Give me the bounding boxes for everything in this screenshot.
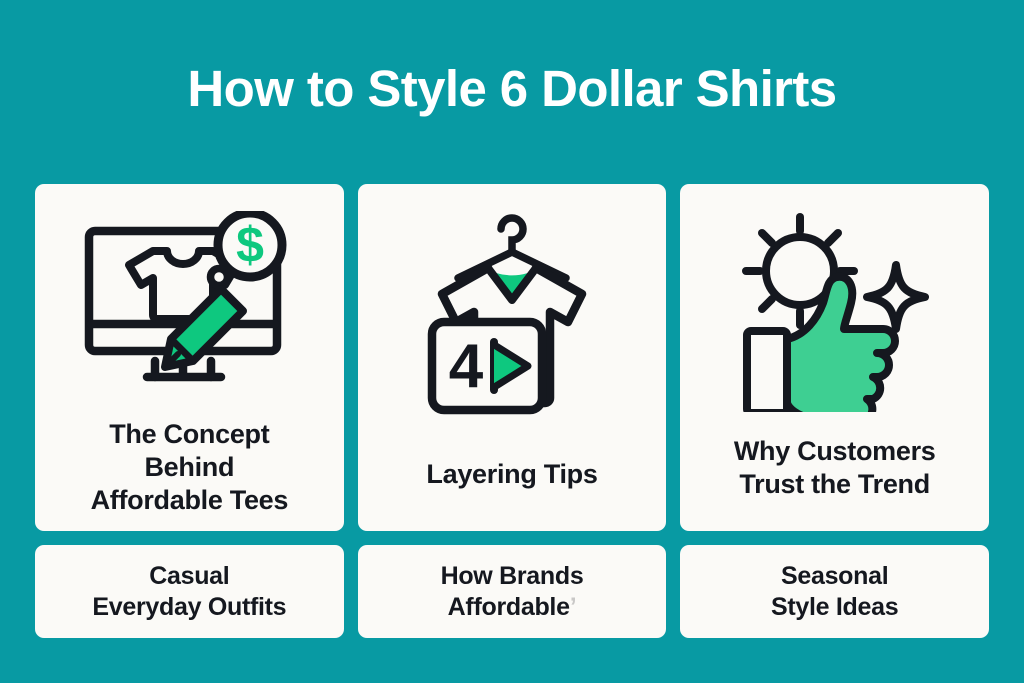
sparkle-icon [867, 265, 925, 329]
tag-number-text: 4 [449, 332, 484, 401]
card-label-line: Layering Tips [426, 458, 597, 491]
card-label-why-customers-trust: Why Customers Trust the Trend [724, 435, 946, 501]
card-label-line: Casual [92, 561, 286, 592]
card-the-concept-behind-affordable-tees[interactable]: $ The Concept Behind Affordable Tees [35, 184, 344, 531]
card-label-the-concept: The Concept Behind Affordable Tees [81, 418, 299, 517]
card-label-line: Style Ideas [771, 592, 898, 623]
dollar-symbol-text: $ [236, 217, 264, 273]
card-label-line: Seasonal [771, 561, 898, 592]
card-seasonal-style-ideas[interactable]: Seasonal Style Ideas [680, 545, 989, 638]
card-label-line: How Brands [441, 561, 584, 592]
card-label-line: Affordable [448, 593, 570, 621]
card-label-line: Behind [91, 451, 289, 484]
top-card-row: $ The Concept Behind Affordable Tees [35, 184, 989, 531]
page-title: How to Style 6 Dollar Shirts [0, 62, 1024, 116]
card-label-how-brands-affordable: How Brands Affordable’ [441, 561, 584, 623]
hanger-tshirt-tag-icon: 4 [358, 204, 667, 434]
card-how-brands-affordable[interactable]: How Brands Affordable’ [358, 545, 667, 638]
card-label-seasonal-style-ideas: Seasonal Style Ideas [771, 561, 898, 623]
card-layering-tips[interactable]: 4 Layering Tips [358, 184, 667, 531]
card-casual-everyday-outfits[interactable]: Casual Everyday Outfits [35, 545, 344, 638]
card-label-line: Why Customers [734, 435, 936, 468]
trailing-artifact-mark: ’ [570, 593, 577, 621]
card-label-line: Everyday Outfits [92, 592, 286, 623]
sun-sparkle-thumbsup-icon [680, 202, 989, 417]
card-why-customers-trust-the-trend[interactable]: Why Customers Trust the Trend [680, 184, 989, 531]
card-label-line: Trust the Trend [734, 468, 936, 501]
card-label-casual-everyday-outfits: Casual Everyday Outfits [92, 561, 286, 623]
card-label-line-with-mark: Affordable’ [441, 592, 584, 623]
monitor-tshirt-magnifier-pencil-icon: $ [35, 206, 344, 406]
bottom-card-row: Casual Everyday Outfits How Brands Affor… [35, 545, 989, 638]
infographic-canvas: How to Style 6 Dollar Shirts [0, 0, 1024, 683]
card-label-layering-tips: Layering Tips [416, 458, 607, 491]
card-label-line: The Concept [91, 418, 289, 451]
card-label-line: Affordable Tees [91, 484, 289, 517]
